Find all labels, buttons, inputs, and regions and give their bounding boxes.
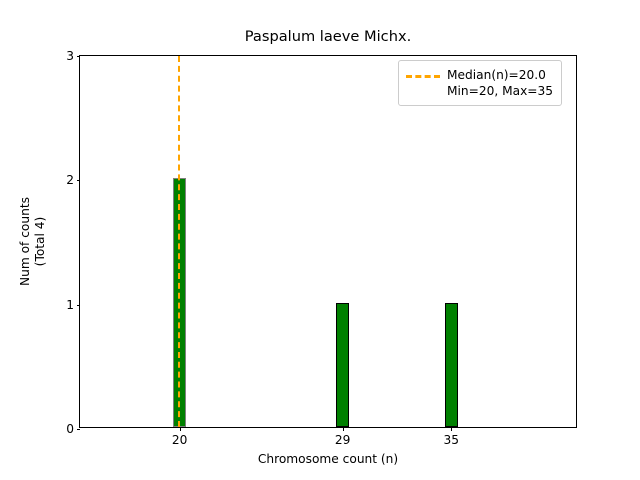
y-axis-label-line-2: (Total 4) [33, 55, 48, 428]
legend-text: Median(n)=20.0 Min=20, Max=35 [447, 67, 553, 99]
x-tick-mark [180, 427, 181, 431]
y-tick-mark [77, 429, 81, 430]
x-axis-label: Chromosome count (n) [79, 452, 577, 466]
matplotlib-figure: Paspalum laeve Michx. 0123 202935 Chromo… [0, 0, 640, 480]
x-tick-mark [343, 427, 344, 431]
legend-entry-minmax: Min=20, Max=35 [447, 83, 553, 99]
chart-title: Paspalum laeve Michx. [79, 28, 577, 45]
x-tick-label: 29 [335, 434, 351, 447]
legend: Median(n)=20.0 Min=20, Max=35 [398, 60, 562, 106]
x-tick-label: 35 [443, 434, 459, 447]
median-line [178, 56, 180, 427]
plot-area: 0123 202935 [79, 55, 577, 428]
y-tick-label: 2 [66, 174, 74, 186]
y-tick-label: 0 [66, 423, 74, 435]
y-tick-label: 3 [66, 50, 74, 62]
median-line-layer [80, 56, 576, 427]
y-axis-label: Num of counts (Total 4) [18, 55, 58, 428]
legend-median-line-swatch [406, 67, 440, 84]
x-tick-mark [451, 427, 452, 431]
y-axis-label-line-1: Num of counts [18, 55, 33, 428]
y-tick-label: 1 [66, 299, 74, 311]
legend-entry-median: Median(n)=20.0 [447, 67, 553, 83]
x-tick-label: 20 [172, 434, 188, 447]
